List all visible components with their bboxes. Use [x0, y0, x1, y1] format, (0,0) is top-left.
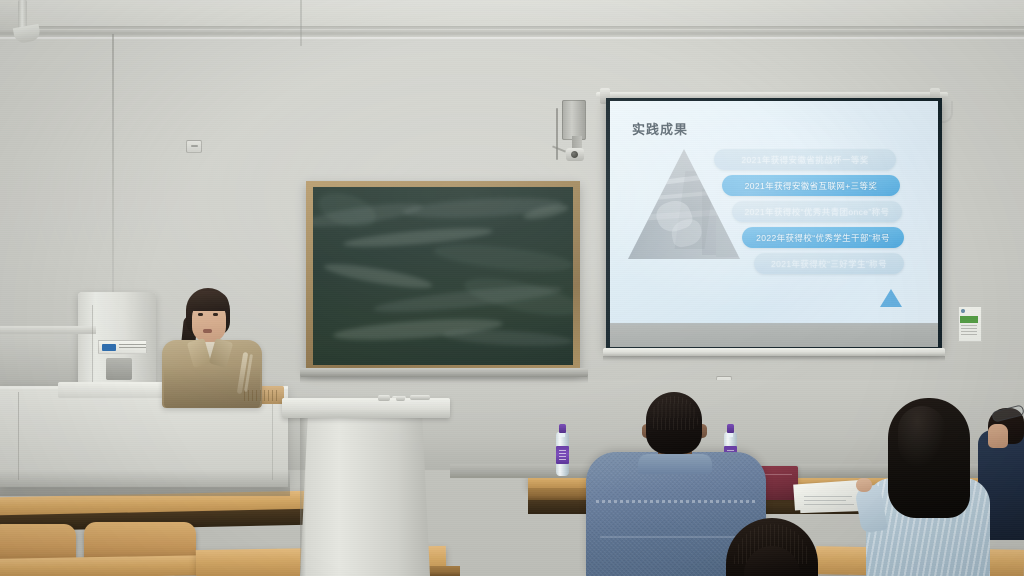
denim-seam: [600, 536, 752, 538]
air-conditioner-label: [98, 340, 147, 354]
audience-hand: [856, 478, 872, 492]
hair-highlight: [898, 406, 946, 468]
camera-mount-plate: [562, 100, 586, 140]
slide-achievement-item: 2021年获得安徽省互联网+三等奖: [722, 175, 900, 196]
achievement-text: 2021年获得校“优秀共青团once”称号: [745, 206, 890, 218]
denim-collar: [638, 454, 712, 474]
audience-hand: [988, 424, 1008, 448]
slide-title: 实践成果: [632, 119, 688, 138]
projection-screen: 实践成果 2021年获得安徽省挑战杯一等奖 2021年获得安徽省互联网+三等奖 …: [610, 101, 938, 347]
lectern-object: [396, 396, 405, 401]
slide-achievement-item: 2021年获得校“三好学生”称号: [754, 253, 904, 274]
brand-mark-icon: [102, 344, 116, 351]
wall-sign-band: [960, 316, 978, 323]
ceiling-edge: [0, 26, 1024, 29]
chalk-tray: [300, 368, 588, 377]
denim-seam: [596, 500, 756, 503]
screen-weight-bar-shadow: [603, 356, 945, 361]
wall-seam-upper: [300, 0, 302, 46]
screen-weight-bar: [603, 348, 945, 356]
lectern: [300, 416, 430, 576]
slide-achievement-item: 2021年获得校“优秀共青团once”称号: [732, 201, 902, 222]
label-text-lines: [119, 344, 146, 350]
presenter-mouth: [203, 329, 212, 333]
blackboard: [313, 187, 573, 365]
screen-unprojected-area: [610, 323, 938, 347]
lectern-edge: [300, 416, 306, 576]
achievement-text: 2022年获得校“优秀学生干部”称号: [756, 232, 890, 244]
wall-socket: [186, 140, 202, 153]
slide: 实践成果 2021年获得安徽省挑战杯一等奖 2021年获得安徽省互联网+三等奖 …: [610, 101, 938, 325]
presenter-eye-right: [213, 313, 218, 316]
counter-seam: [272, 392, 273, 480]
chalk-tray-shadow: [300, 377, 588, 383]
paper-text-line: [804, 496, 852, 497]
counter-seam: [18, 392, 19, 480]
lectern-object: [378, 395, 390, 401]
classroom-presentation-photo: 实践成果 2021年获得安徽省挑战杯一等奖 2021年获得安徽省互联网+三等奖 …: [0, 0, 1024, 576]
wall-molding: [0, 30, 1024, 37]
lectern-object: [410, 395, 430, 400]
ceiling: [0, 0, 1024, 28]
achievement-text: 2021年获得安徽省挑战杯一等奖: [741, 154, 868, 166]
air-conditioner-vent: [106, 358, 132, 380]
camera-lens-icon: [571, 151, 578, 158]
slide-achievement-item: 2022年获得校“优秀学生干部”称号: [742, 227, 904, 248]
lectern-items: [378, 395, 434, 402]
wall-sign-dot-icon: [961, 309, 965, 313]
achievement-text: 2021年获得校“三好学生”称号: [771, 258, 887, 270]
slide-achievement-item: 2021年获得安徽省挑战杯一等奖: [714, 149, 896, 170]
paper-text-line: [804, 500, 846, 501]
slide-accent-triangle-icon: [880, 289, 902, 307]
wall-molding-highlight: [0, 37, 1024, 39]
achievement-text: 2021年获得安徽省互联网+三等奖: [745, 180, 878, 192]
paper-text-line: [804, 504, 854, 505]
presenter-jacket-shading: [164, 366, 260, 408]
wall-sign-text-lines: [961, 325, 977, 336]
side-cabinet-top: [0, 326, 96, 334]
presenter-hair-fringe: [189, 291, 229, 311]
counter-shadow: [0, 470, 290, 496]
camera-cable: [556, 108, 558, 160]
presenter-eye-left: [198, 313, 203, 316]
